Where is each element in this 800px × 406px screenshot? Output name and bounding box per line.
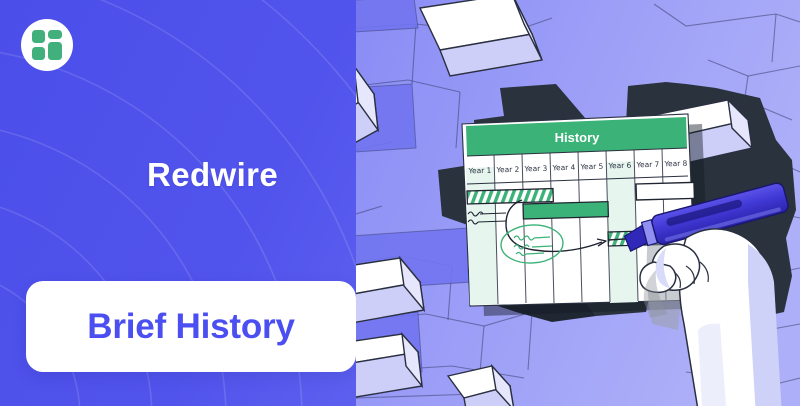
logo-square-bottom-left xyxy=(32,47,45,60)
column-header-year-3: Year 3 xyxy=(523,164,547,174)
page-title: Brief History xyxy=(87,307,294,347)
column-header-year-1: Year 1 xyxy=(467,166,491,176)
logo-grid xyxy=(32,30,62,60)
logo-square-top-right xyxy=(48,30,62,39)
table-header-title: History xyxy=(555,130,601,145)
column-header-year-5: Year 5 xyxy=(579,162,603,172)
gantt-bar-outline-year6-8 xyxy=(636,182,694,200)
column-header-year-6: Year 6 xyxy=(607,161,631,171)
gantt-bar-solid-year3-5 xyxy=(523,202,608,219)
column-header-year-2: Year 2 xyxy=(495,165,519,175)
logo-square-top-left xyxy=(32,30,45,43)
brand-name: Redwire xyxy=(147,158,278,191)
four-square-grid-logo-icon xyxy=(21,19,73,71)
title-card: Brief History xyxy=(26,281,356,372)
column-header-year-4: Year 4 xyxy=(551,163,575,173)
gantt-bar-hatched-year1-3 xyxy=(467,189,553,204)
logo-square-bottom-right xyxy=(48,42,62,60)
column-header-year-7: Year 7 xyxy=(635,160,659,170)
slide-canvas: Redwire Brief History xyxy=(0,0,800,406)
illustration-hand-drawing-gantt-chart: History Year 1 Year 2 xyxy=(356,0,800,406)
column-header-year-8: Year 8 xyxy=(663,159,687,169)
